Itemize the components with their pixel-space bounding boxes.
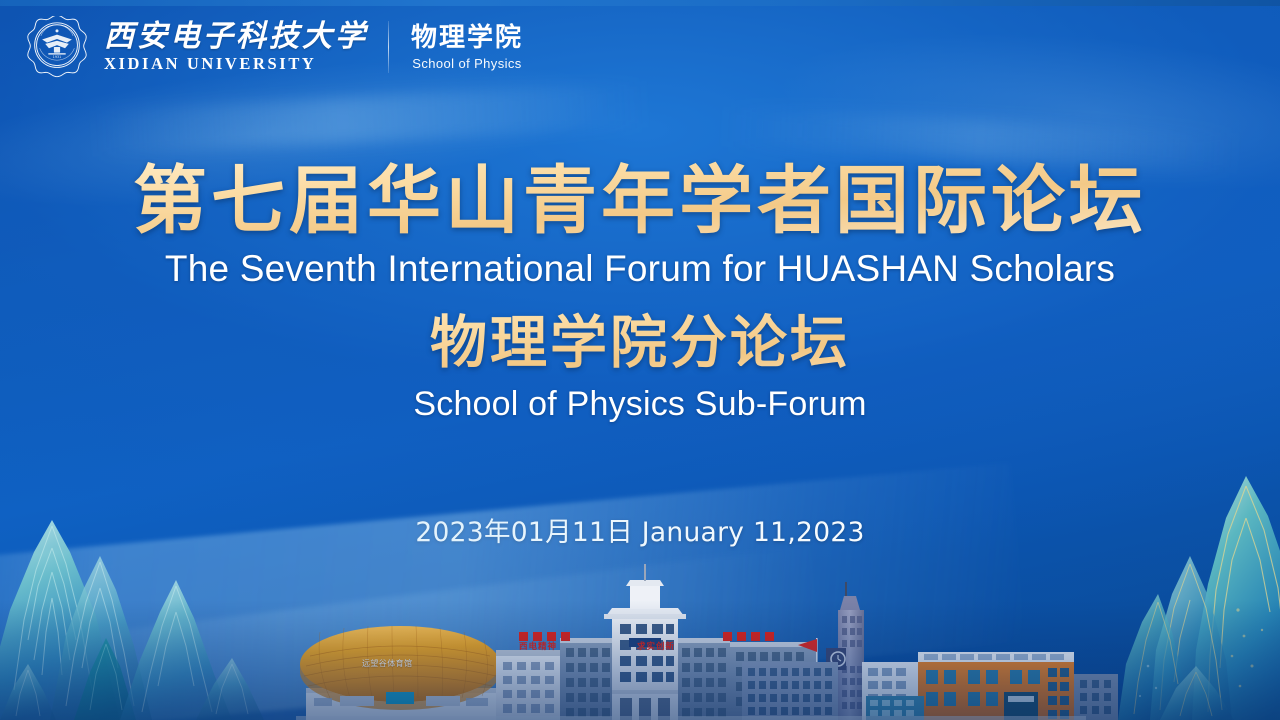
building-sign-left bbox=[519, 632, 570, 641]
stadium-building bbox=[300, 626, 500, 720]
left-wing-building bbox=[496, 650, 562, 720]
building-sign-left-label: 西电精神 bbox=[519, 642, 557, 652]
university-name-block: 西安电子科技大学 XIDIAN UNIVERSITY bbox=[104, 21, 368, 73]
mountain-illustration bbox=[0, 460, 1280, 720]
main-title-en: The Seventh International Forum for HUAS… bbox=[0, 246, 1280, 292]
top-highlight-strip bbox=[0, 0, 1280, 6]
red-flag-icon bbox=[798, 639, 817, 652]
building-sign-right bbox=[723, 632, 774, 641]
logo-lockup: 1931 西安电子科技大学 XIDIAN UNIVERSITY 物理学院 Sch… bbox=[26, 14, 523, 80]
white-modern-block bbox=[862, 662, 918, 720]
sky-cloud-band-left bbox=[89, 81, 651, 156]
school-name-cn: 物理学院 bbox=[411, 23, 523, 53]
clock-face bbox=[831, 652, 845, 666]
sub-title-cn: 物理学院分论坛 bbox=[0, 306, 1280, 380]
mountain-scenery bbox=[0, 460, 1280, 720]
svg-text:1931: 1931 bbox=[53, 55, 62, 59]
event-date: 2023年01月11日 January 11,2023 bbox=[0, 516, 1280, 550]
far-right-blocks bbox=[1074, 674, 1118, 720]
clock-tower bbox=[826, 582, 864, 720]
campus-skyline bbox=[0, 540, 1280, 720]
flag-pole bbox=[798, 638, 818, 700]
right-block-buildings bbox=[730, 642, 816, 720]
light-sweep-primary bbox=[0, 463, 1026, 720]
orange-building bbox=[918, 652, 1074, 720]
mountain-right-group bbox=[1118, 476, 1280, 720]
poster-canvas: 1931 西安电子科技大学 XIDIAN UNIVERSITY 物理学院 Sch… bbox=[0, 0, 1280, 720]
university-name-en: XIDIAN UNIVERSITY bbox=[104, 54, 368, 73]
sub-title-en: School of Physics Sub-Forum bbox=[0, 382, 1280, 426]
logo-divider bbox=[388, 21, 389, 73]
bottom-shade-overlay bbox=[0, 600, 1280, 720]
apartment-slab bbox=[742, 662, 838, 720]
building-sign-right-label: 求实创新 bbox=[637, 642, 675, 652]
teal-glass-block bbox=[866, 696, 924, 720]
mountain-right-dots bbox=[1231, 608, 1264, 687]
campus-buildings-illustration bbox=[0, 540, 1280, 720]
university-name-cn: 西安电子科技大学 bbox=[104, 21, 368, 53]
school-name-en: School of Physics bbox=[411, 56, 523, 72]
main-title-cn: 第七届华山青年学者国际论坛 bbox=[0, 158, 1280, 244]
stadium-label: 远望谷体育馆 bbox=[362, 659, 412, 669]
light-sweep-secondary bbox=[0, 546, 824, 720]
xidian-university-seal-icon: 1931 bbox=[26, 16, 88, 78]
school-name-block: 物理学院 School of Physics bbox=[411, 23, 523, 72]
mountain-left-group bbox=[0, 520, 264, 720]
title-block: 第七届华山青年学者国际论坛 The Seventh International … bbox=[0, 158, 1280, 426]
